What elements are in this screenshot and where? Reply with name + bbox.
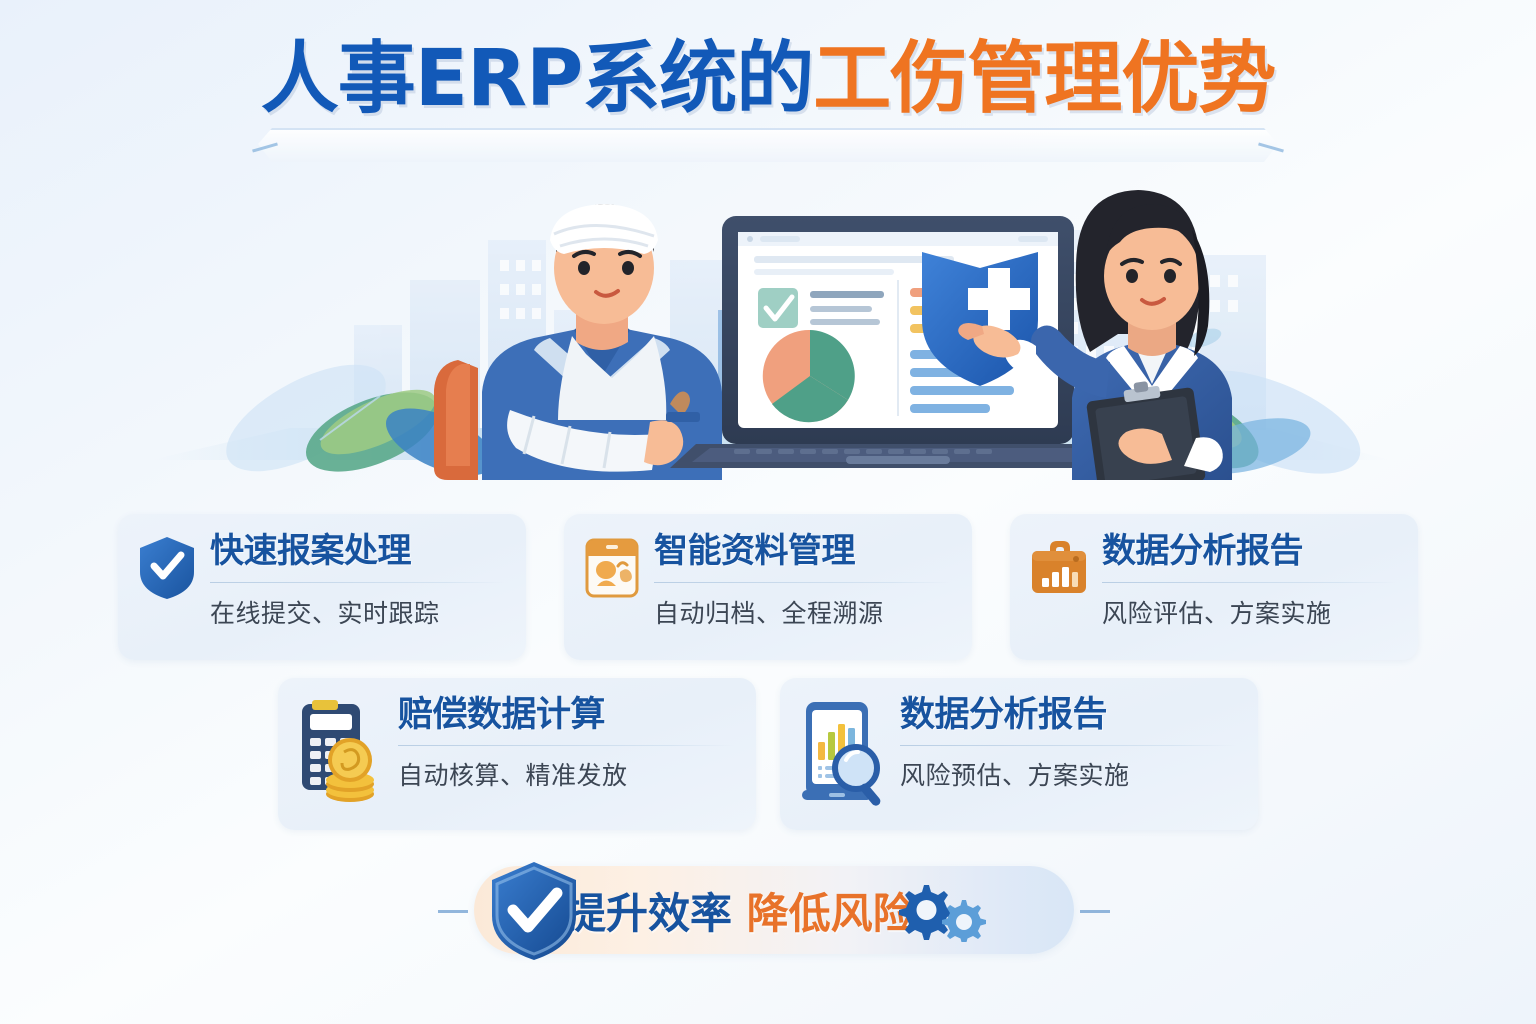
page-title-blue: 人事ERP系统的 xyxy=(261,34,814,124)
feature-card-1-subtitle: 在线提交、实时跟踪 xyxy=(210,594,504,630)
calculator-coins-icon xyxy=(298,698,384,813)
feature-card-2[interactable]: 智能资料管理 自动归档、全程溯源 xyxy=(564,514,972,660)
briefcase-chart-icon xyxy=(1030,536,1088,603)
feature-card-1-body: 快速报案处理 在线提交、实时跟踪 xyxy=(210,532,504,630)
summary-banner[interactable]: 提升效率 降低风险 xyxy=(474,866,1074,954)
page-title-orange: 工伤管理优势 xyxy=(813,34,1275,124)
feature-card-2-title: 智能资料管理 xyxy=(654,532,950,570)
divider xyxy=(654,582,950,583)
feature-card-4-body: 赔偿数据计算 自动核算、精准发放 xyxy=(398,696,734,792)
pie-chart xyxy=(763,330,855,422)
feature-card-5[interactable]: 数据分析报告 风险预估、方案实施 xyxy=(780,678,1258,830)
feature-cards-top-row: 快速报案处理 在线提交、实时跟踪 智能资料管理 自动归档、全程溯源 xyxy=(118,514,1418,660)
feature-card-3[interactable]: 数据分析报告 风险评估、方案实施 xyxy=(1010,514,1418,660)
feature-card-2-subtitle: 自动归档、全程溯源 xyxy=(654,594,950,630)
banner-text-blue: 提升效率 xyxy=(564,889,732,938)
feature-card-1-title: 快速报案处理 xyxy=(210,532,504,570)
divider xyxy=(210,582,504,583)
feature-card-4-subtitle: 自动核算、精准发放 xyxy=(398,756,734,792)
divider xyxy=(1102,582,1396,583)
feature-card-3-body: 数据分析报告 风险评估、方案实施 xyxy=(1102,532,1396,630)
feature-card-4-title: 赔偿数据计算 xyxy=(398,696,734,735)
feature-card-5-subtitle: 风险预估、方案实施 xyxy=(900,756,1236,792)
title-ribbon xyxy=(258,128,1278,162)
shield-check-icon xyxy=(486,858,582,969)
page-title-wrap: 人事ERP系统的工伤管理优势 xyxy=(0,40,1536,118)
feature-card-4[interactable]: 赔偿数据计算 自动核算、精准发放 xyxy=(278,678,756,830)
chair xyxy=(434,360,478,480)
id-badge-document-icon xyxy=(584,536,640,605)
tablet-chart-magnifier-icon xyxy=(800,698,886,815)
feature-card-1[interactable]: 快速报案处理 在线提交、实时跟踪 xyxy=(118,514,526,660)
feature-card-5-title: 数据分析报告 xyxy=(900,696,1236,735)
divider xyxy=(900,745,1236,746)
hero-illustration xyxy=(110,160,1426,480)
feature-card-2-body: 智能资料管理 自动归档、全程溯源 xyxy=(654,532,950,630)
gears-group xyxy=(890,880,1000,947)
feature-card-5-body: 数据分析报告 风险预估、方案实施 xyxy=(900,696,1236,792)
feature-card-3-subtitle: 风险评估、方案实施 xyxy=(1102,594,1396,630)
feature-cards-bottom-row: 赔偿数据计算 自动核算、精准发放 xyxy=(278,678,1258,830)
feature-card-3-title: 数据分析报告 xyxy=(1102,532,1396,570)
divider xyxy=(398,745,734,746)
banner-tail-left xyxy=(438,910,468,913)
banner-tail-right xyxy=(1080,910,1110,913)
shield-check-icon xyxy=(138,536,196,605)
banner-text: 提升效率 降低风险 xyxy=(564,880,915,941)
page-title: 人事ERP系统的工伤管理优势 xyxy=(261,40,1276,118)
